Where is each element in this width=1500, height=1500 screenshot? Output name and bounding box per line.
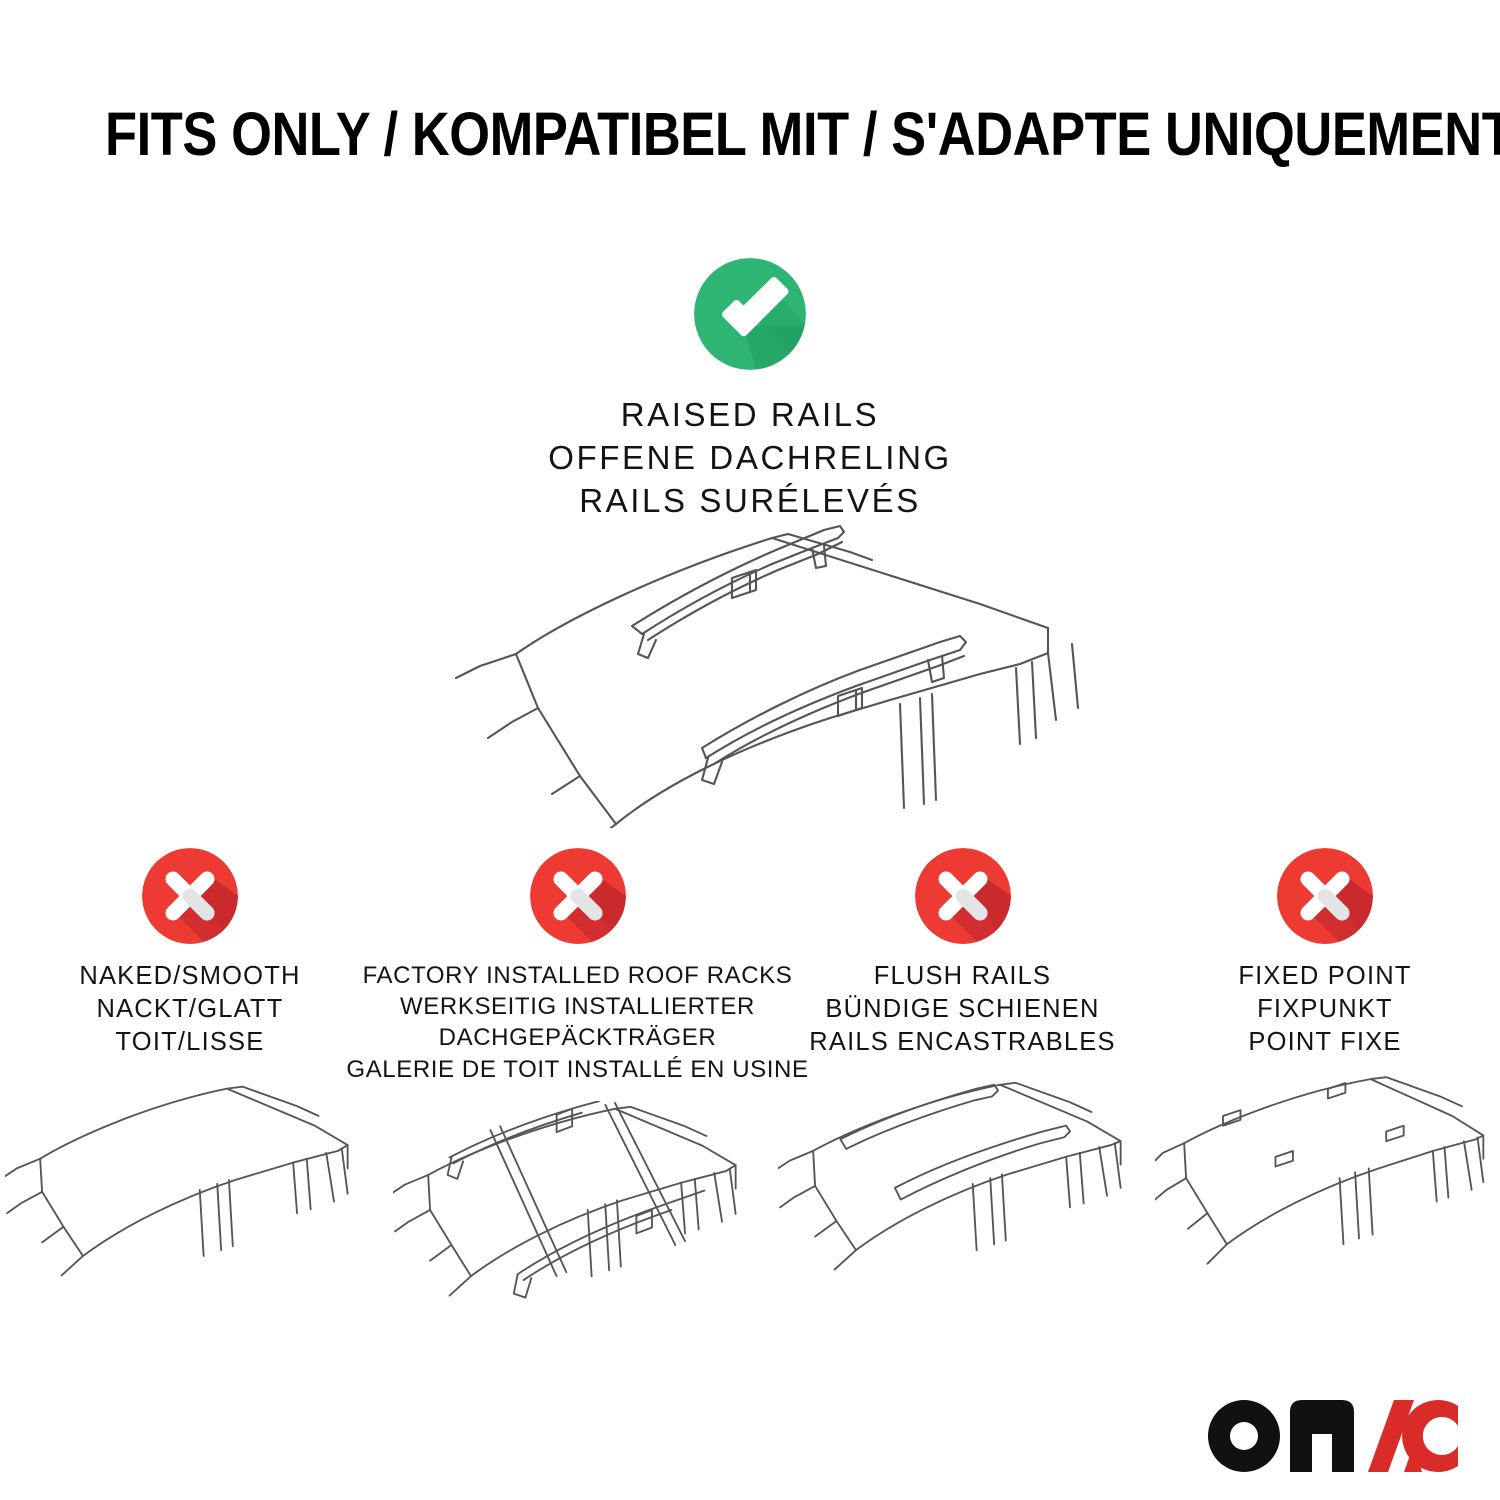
car-roof-naked-smooth-illustration <box>5 1075 375 1333</box>
logo-letter-m <box>1290 1400 1354 1472</box>
fits-label: RAISED RAILS OFFENE DACHRELING RAILS SUR… <box>0 394 1500 523</box>
car-roof-flush-rails-illustration <box>778 1075 1148 1333</box>
label-line: NAKED/SMOOTH <box>79 960 300 993</box>
x-circle-icon <box>915 848 1011 944</box>
logo-letter-o <box>1208 1400 1280 1472</box>
car-roof-raised-rails-illustration <box>420 508 1110 828</box>
does-not-fit-label-flush-rails: FLUSH RAILS BÜNDIGE SCHIENEN RAILS ENCAS… <box>809 960 1115 1059</box>
label-line: GALERIE DE TOIT INSTALLÉ EN USINE <box>346 1054 808 1085</box>
does-not-fit-item-flush-rails: FLUSH RAILS BÜNDIGE SCHIENEN RAILS ENCAS… <box>775 848 1150 1333</box>
label-line: BÜNDIGE SCHIENEN <box>809 993 1115 1026</box>
does-not-fit-item-factory-roof-rack: FACTORY INSTALLED ROOF RACKS WERKSEITIG … <box>380 848 775 1359</box>
label-line: NACKT/GLATT <box>79 993 300 1026</box>
x-circle-icon <box>142 848 238 944</box>
x-circle-icon <box>530 848 626 944</box>
does-not-fit-item-naked-smooth: NAKED/SMOOTH NACKT/GLATT TOIT/LISSE <box>0 848 380 1333</box>
check-circle-icon <box>694 258 806 370</box>
x-circle-icon <box>1277 848 1373 944</box>
page-header: FITS ONLY / KOMPATIBEL MIT / S'ADAPTE UN… <box>0 104 1500 165</box>
does-not-fit-label-fixed-point: FIXED POINT FIXPUNKT POINT FIXE <box>1238 960 1411 1059</box>
car-roof-factory-roof-rack-illustration <box>393 1101 763 1359</box>
label-line: FIXED POINT <box>1238 960 1411 993</box>
page-title: FITS ONLY / KOMPATIBEL MIT / S'ADAPTE UN… <box>105 104 1395 165</box>
car-roof-fixed-point-illustration <box>1155 1075 1495 1333</box>
label-line: FIXPUNKT <box>1238 993 1411 1026</box>
fits-label-de: OFFENE DACHRELING <box>0 437 1500 480</box>
label-line: POINT FIXE <box>1238 1026 1411 1059</box>
label-line: WERKSEITIG INSTALLIERTER <box>346 991 808 1022</box>
fits-section: RAISED RAILS OFFENE DACHRELING RAILS SUR… <box>0 258 1500 523</box>
label-line: DACHGEPÄCKTRÄGER <box>346 1022 808 1053</box>
label-line: RAILS ENCASTRABLES <box>809 1026 1115 1059</box>
does-not-fit-section: NAKED/SMOOTH NACKT/GLATT TOIT/LISSE <box>0 848 1500 1359</box>
label-line: FLUSH RAILS <box>809 960 1115 993</box>
does-not-fit-item-fixed-point: FIXED POINT FIXPUNKT POINT FIXE <box>1150 848 1500 1333</box>
does-not-fit-label-naked-smooth: NAKED/SMOOTH NACKT/GLATT TOIT/LISSE <box>79 960 300 1059</box>
omac-logo <box>1208 1400 1458 1472</box>
label-line: FACTORY INSTALLED ROOF RACKS <box>346 960 808 991</box>
fits-label-en: RAISED RAILS <box>0 394 1500 437</box>
label-line: TOIT/LISSE <box>79 1026 300 1059</box>
does-not-fit-label-factory-roof-rack: FACTORY INSTALLED ROOF RACKS WERKSEITIG … <box>346 960 808 1085</box>
